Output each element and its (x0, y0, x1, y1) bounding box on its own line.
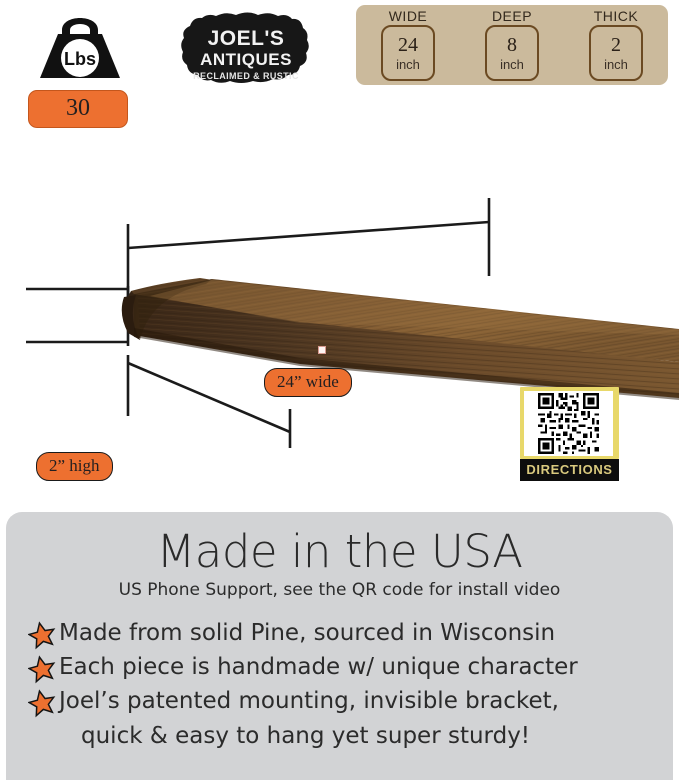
list-item: Each piece is handmade w/ unique charact… (28, 652, 673, 684)
qr-caption-label: DIRECTIONS (520, 459, 619, 481)
brand-logo: JOEL'S ANTIQUES RECLAIMED & RUSTIC (176, 12, 316, 92)
width-label-pill: 24” wide (264, 368, 352, 397)
dimension-wide-value: 24 (398, 35, 418, 55)
list-item: Made from solid Pine, sourced in Wiscons… (28, 618, 673, 650)
list-item: Joel’s patented mounting, invisible brac… (28, 686, 673, 718)
dimension-wide-unit: inch (396, 57, 420, 72)
brand-line-3: RECLAIMED & RUSTIC (193, 71, 299, 81)
dimension-deep-box: 8 inch (485, 25, 539, 81)
list-item-label-continuation: quick & easy to hang yet super sturdy! (81, 720, 673, 752)
page-title: Made in the USA (6, 526, 673, 578)
brand-line-2: ANTIQUES (200, 50, 292, 69)
dimension-deep-title: DEEP (466, 8, 558, 24)
dimension-wide-box: 24 inch (381, 25, 435, 81)
qr-code-frame (520, 387, 619, 459)
wood-shelf-board (122, 278, 679, 400)
height-label-pill: 2” high (36, 452, 113, 481)
dimension-thick-value: 2 (611, 35, 621, 55)
list-item-label: Joel’s patented mounting, invisible brac… (56, 686, 559, 716)
star-bullet-icon (28, 620, 56, 650)
list-item-label: Each piece is handmade w/ unique charact… (56, 652, 578, 682)
qr-code-icon (524, 391, 613, 456)
dimension-wide-title: WIDE (362, 8, 454, 24)
weight-value-badge: 30 (28, 90, 128, 128)
qr-code-block[interactable]: DIRECTIONS (520, 387, 619, 481)
weight-icon-label: Lbs (64, 49, 96, 69)
dimension-deep-unit: inch (500, 57, 524, 72)
star-bullet-icon (28, 654, 56, 684)
dimension-thick-unit: inch (604, 57, 628, 72)
registration-mark-icon (318, 346, 326, 354)
kettlebell-weight-icon: Lbs (28, 8, 132, 84)
dimension-thick-box: 2 inch (589, 25, 643, 81)
weight-capacity-block: Lbs 30 (28, 8, 134, 128)
dimensions-panel: WIDE 24 inch DEEP 8 inch THICK 2 inch (356, 5, 668, 85)
dimension-deep: DEEP 8 inch (466, 8, 558, 81)
star-bullet-icon (28, 688, 56, 718)
dimension-thick: THICK 2 inch (570, 8, 662, 81)
list-item-label: Made from solid Pine, sourced in Wiscons… (56, 618, 555, 648)
promo-panel: Made in the USA US Phone Support, see th… (6, 512, 673, 780)
dimension-thick-title: THICK (570, 8, 662, 24)
dimension-deep-value: 8 (507, 35, 517, 55)
brand-line-1: JOEL'S (208, 27, 285, 50)
product-infographic: Lbs 30 JOEL'S ANTIQUES RECLAIMED & RUSTI… (0, 0, 679, 780)
dimension-wide: WIDE 24 inch (362, 8, 454, 81)
feature-list: Made from solid Pine, sourced in Wiscons… (28, 618, 673, 752)
promo-subhead: US Phone Support, see the QR code for in… (6, 580, 673, 600)
